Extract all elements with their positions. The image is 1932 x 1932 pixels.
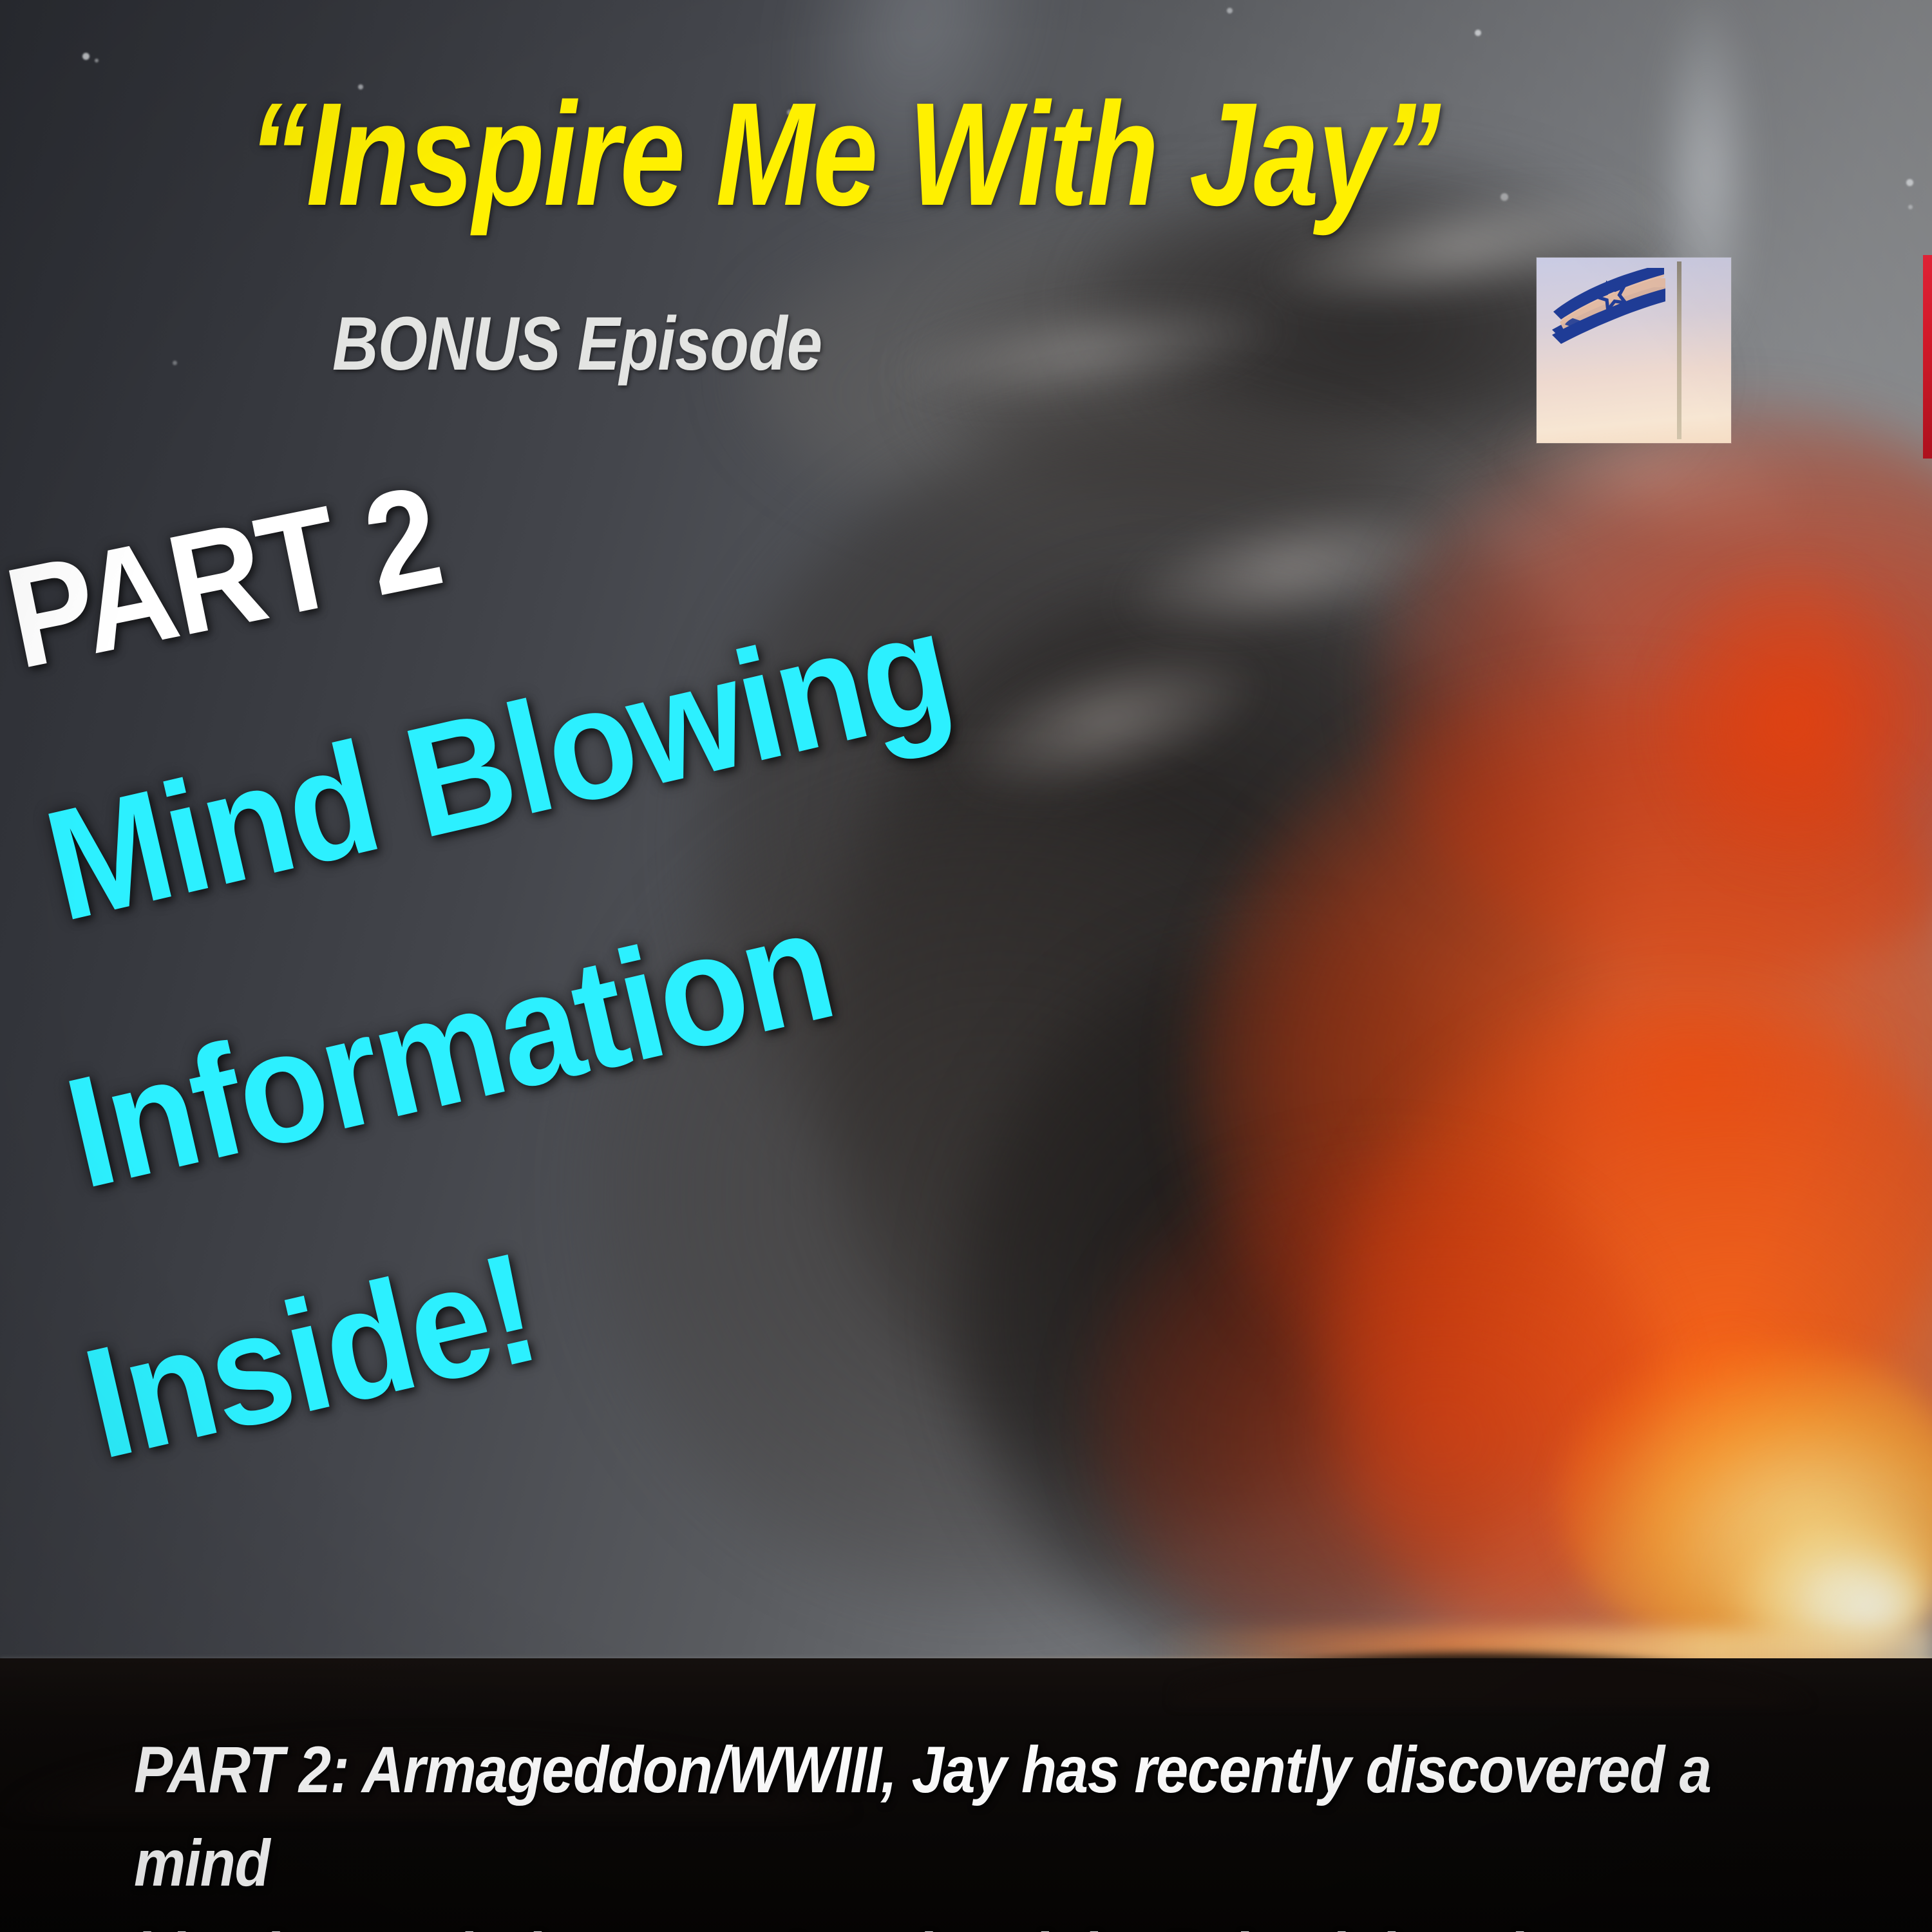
star-speck — [95, 59, 99, 62]
star-speck — [1906, 179, 1913, 186]
bonus-episode-label: BONUS Episode — [332, 306, 822, 382]
fire-tongue — [1649, 554, 1932, 889]
thumbnail-canvas: “Inspire Me With Jay” BONUS Episode PART… — [0, 0, 1932, 1932]
fire-glow — [1082, 1146, 1662, 1674]
palestinian-flag-partial — [1923, 255, 1932, 459]
caption-text: PART 2: Armageddon/WWIII, Jay has recent… — [134, 1723, 1752, 1932]
israel-flag-icon — [1551, 268, 1687, 346]
star-speck — [82, 53, 90, 60]
caption-line-1: PART 2: Armageddon/WWIII, Jay has recent… — [134, 1723, 1752, 1910]
star-speck — [1908, 205, 1913, 209]
star-speck — [1227, 8, 1233, 14]
star-speck — [173, 361, 177, 365]
caption-line-2: blowing truth that casts Israel and the … — [134, 1910, 1752, 1932]
flag-pole — [1677, 261, 1681, 439]
star-speck — [1475, 30, 1481, 36]
page-title: “Inspire Me With Jay” — [249, 81, 1440, 228]
ground-ridge — [1172, 1628, 1932, 1705]
israel-flag-inset — [1537, 258, 1731, 443]
